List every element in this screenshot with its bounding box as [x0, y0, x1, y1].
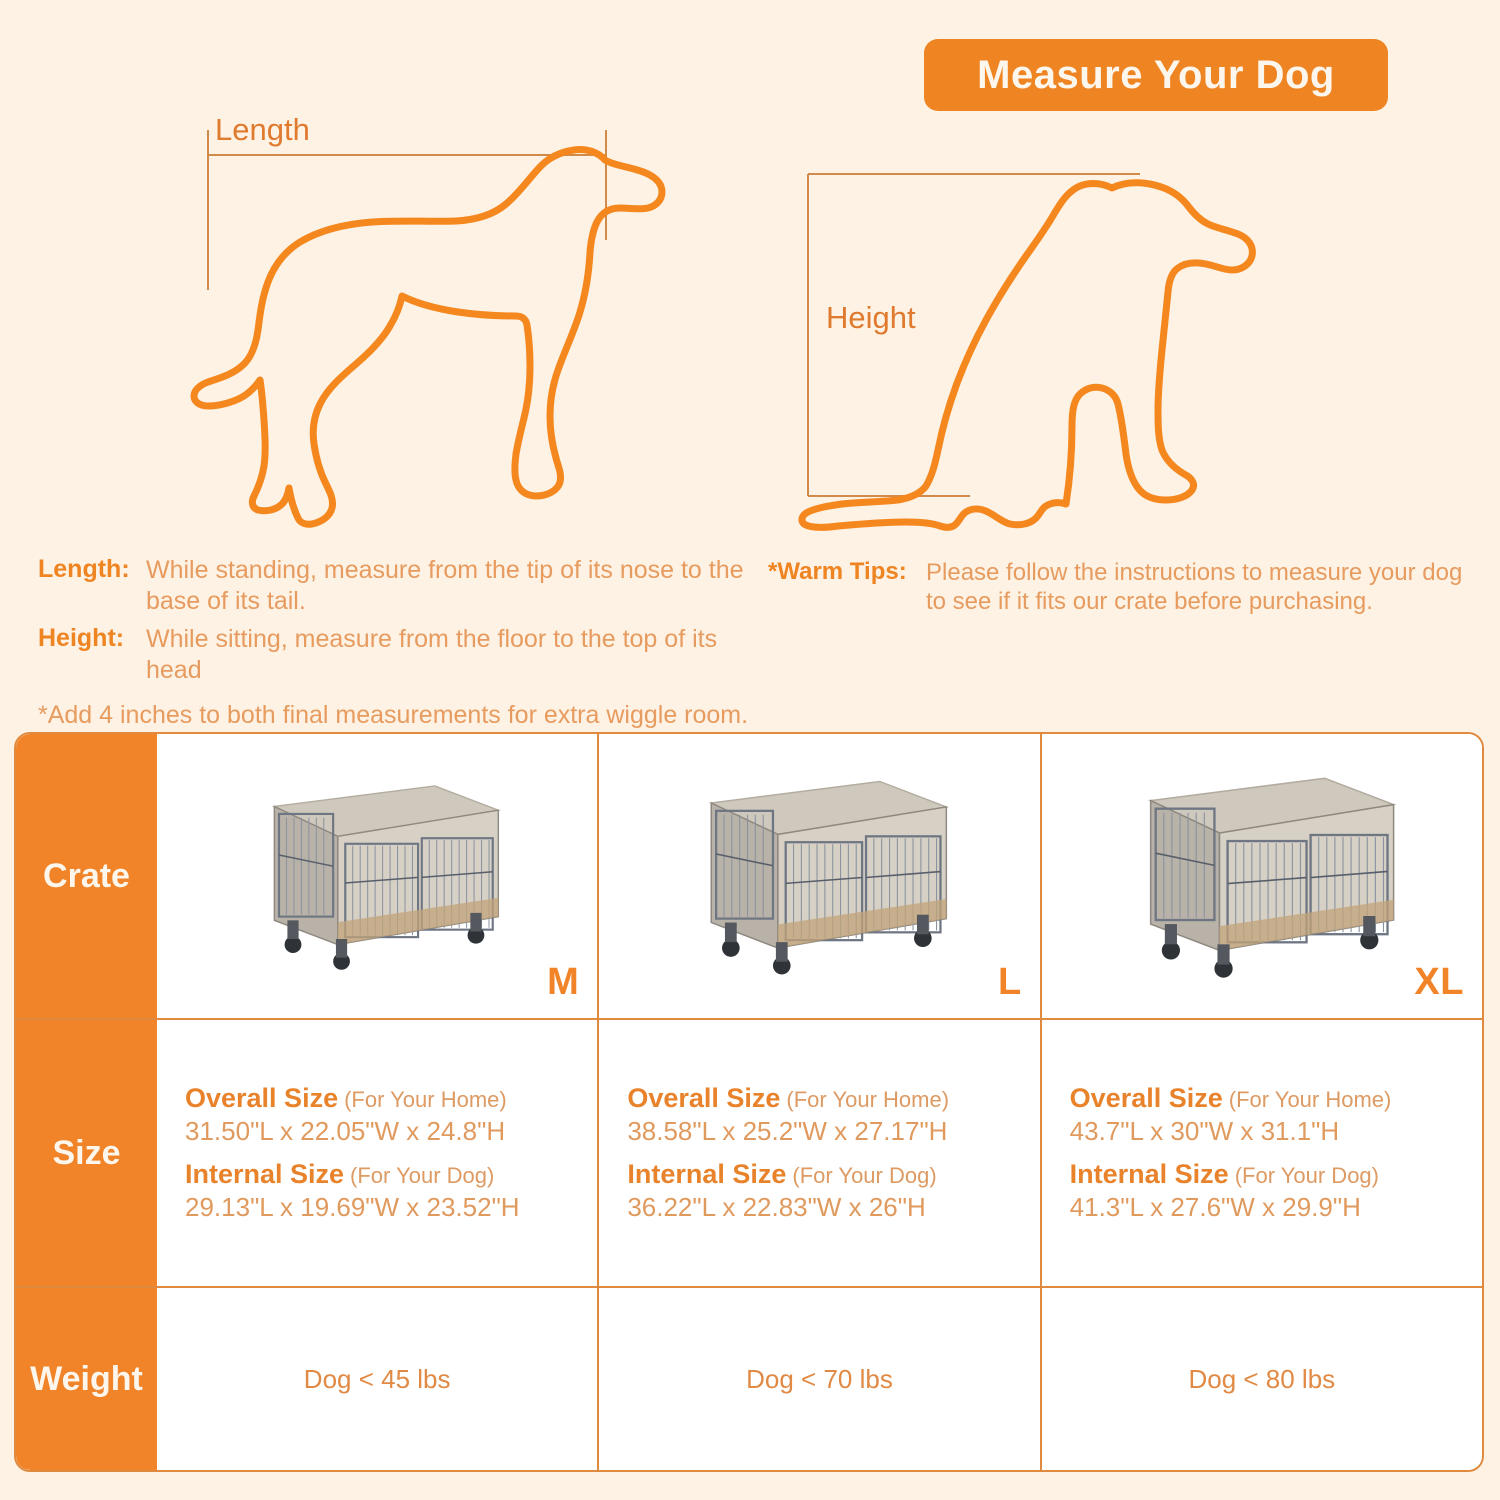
- measure-your-dog-badge: Measure Your Dog: [924, 39, 1388, 111]
- warm-tips: *Warm Tips: Please follow the instructio…: [768, 558, 1488, 617]
- sitting-dog-outline: [802, 183, 1252, 528]
- instruction-length-text: While standing, measure from the tip of …: [146, 555, 758, 616]
- internal-size-value-xl: 41.3"L x 27.6"W x 29.9"H: [1070, 1192, 1482, 1223]
- measure-your-dog-title: Measure Your Dog: [977, 53, 1335, 98]
- instruction-length: Length: While standing, measure from the…: [38, 555, 758, 616]
- length-label: Length: [215, 112, 310, 148]
- row-header-weight: Weight: [16, 1288, 157, 1470]
- crate-image-l: [659, 756, 979, 996]
- crate-cell-xl: XL: [1040, 734, 1482, 1018]
- weight-cell-m: Dog < 45 lbs: [157, 1288, 597, 1470]
- crate-image-m: [237, 761, 517, 991]
- internal-size-heading-l: Internal Size(For Your Dog): [627, 1159, 1039, 1190]
- overall-size-title-xl: Overall Size: [1070, 1083, 1223, 1113]
- length-dimension-lines: [208, 130, 606, 290]
- internal-size-title-l: Internal Size: [627, 1159, 786, 1189]
- table-row-weight: Weight Dog < 45 lbs Dog < 70 lbs Dog < 8…: [16, 1288, 1482, 1470]
- warm-tips-text: Please follow the instructions to measur…: [926, 558, 1488, 617]
- overall-size-sub-m: (For Your Home): [344, 1087, 507, 1112]
- internal-size-heading-m: Internal Size(For Your Dog): [185, 1159, 597, 1190]
- internal-size-sub-xl: (For Your Dog): [1235, 1163, 1379, 1188]
- overall-size-value-l: 38.58"L x 25.2"W x 27.17"H: [627, 1116, 1039, 1147]
- weight-cell-l: Dog < 70 lbs: [597, 1288, 1039, 1470]
- warm-tips-term: *Warm Tips:: [768, 558, 926, 586]
- overall-size-title-l: Overall Size: [627, 1083, 780, 1113]
- overall-size-value-xl: 43.7"L x 30"W x 31.1"H: [1070, 1116, 1482, 1147]
- row-header-size: Size: [16, 1020, 157, 1286]
- weight-value-m: Dog < 45 lbs: [304, 1364, 451, 1395]
- weight-cell-xl: Dog < 80 lbs: [1040, 1288, 1482, 1470]
- internal-size-title-xl: Internal Size: [1070, 1159, 1229, 1189]
- instruction-height-text: While sitting, measure from the floor to…: [146, 624, 758, 685]
- crate-cell-l: L: [597, 734, 1039, 1018]
- table-row-crate: Crate: [16, 734, 1482, 1020]
- height-label: Height: [826, 300, 916, 336]
- height-diagram: [780, 150, 1300, 550]
- overall-size-value-m: 31.50"L x 22.05"W x 24.8"H: [185, 1116, 597, 1147]
- instruction-height-term: Height:: [38, 624, 146, 653]
- row-header-crate: Crate: [16, 734, 157, 1018]
- internal-size-sub-l: (For Your Dog): [792, 1163, 936, 1188]
- internal-size-heading-xl: Internal Size(For Your Dog): [1070, 1159, 1482, 1190]
- size-cell-xl: Overall Size(For Your Home) 43.7"L x 30"…: [1040, 1020, 1482, 1286]
- internal-size-value-m: 29.13"L x 19.69"W x 23.52"H: [185, 1192, 597, 1223]
- instruction-height: Height: While sitting, measure from the …: [38, 624, 758, 685]
- instruction-length-term: Length:: [38, 555, 146, 584]
- size-cell-l: Overall Size(For Your Home) 38.58"L x 25…: [597, 1020, 1039, 1286]
- table-row-size: Size Overall Size(For Your Home) 31.50"L…: [16, 1020, 1482, 1288]
- crate-size-tag-m: M: [547, 961, 579, 1004]
- measurement-instructions: Length: While standing, measure from the…: [38, 555, 758, 730]
- size-cell-m: Overall Size(For Your Home) 31.50"L x 22…: [157, 1020, 597, 1286]
- length-diagram: [150, 100, 670, 530]
- overall-size-heading-l: Overall Size(For Your Home): [627, 1083, 1039, 1114]
- weight-value-xl: Dog < 80 lbs: [1188, 1364, 1335, 1395]
- overall-size-title-m: Overall Size: [185, 1083, 338, 1113]
- sitting-dog-svg: [780, 150, 1300, 550]
- crate-cell-m: M: [157, 734, 597, 1018]
- spec-table: Crate: [14, 732, 1484, 1472]
- overall-size-sub-l: (For Your Home): [786, 1087, 949, 1112]
- standing-dog-svg: [150, 100, 670, 530]
- crate-image-xl: [1087, 752, 1437, 1000]
- standing-dog-outline: [194, 149, 662, 524]
- wiggle-room-note: *Add 4 inches to both final measurements…: [38, 701, 758, 730]
- internal-size-title-m: Internal Size: [185, 1159, 344, 1189]
- overall-size-heading-m: Overall Size(For Your Home): [185, 1083, 597, 1114]
- internal-size-sub-m: (For Your Dog): [350, 1163, 494, 1188]
- crate-size-tag-l: L: [998, 961, 1022, 1004]
- overall-size-sub-xl: (For Your Home): [1229, 1087, 1392, 1112]
- crate-size-tag-xl: XL: [1414, 961, 1464, 1004]
- overall-size-heading-xl: Overall Size(For Your Home): [1070, 1083, 1482, 1114]
- weight-value-l: Dog < 70 lbs: [746, 1364, 893, 1395]
- internal-size-value-l: 36.22"L x 22.83"W x 26"H: [627, 1192, 1039, 1223]
